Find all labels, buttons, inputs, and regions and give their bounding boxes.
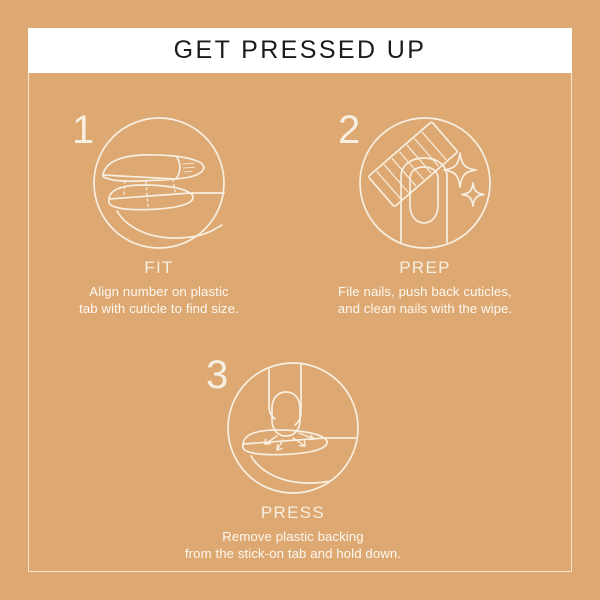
step-press-description-line1: Remove plastic backing [160, 528, 426, 545]
step-prep-description-line1: File nails, push back cuticles, [292, 283, 558, 300]
finger-pressing-nail-icon [225, 360, 361, 496]
title-banner: GET PRESSED UP [28, 28, 572, 73]
step-fit-description: Align number on plastic tab with cuticle… [26, 283, 292, 318]
step-prep-artwork: 2 [292, 112, 558, 248]
step-press-artwork: 3 [160, 357, 426, 493]
nail-with-plastic-tab-icon [91, 115, 227, 251]
step-press-label: PRESS [160, 503, 426, 523]
page-title: GET PRESSED UP [174, 36, 427, 65]
step-fit-label: FIT [26, 258, 292, 278]
step-press-description: Remove plastic backing from the stick-on… [160, 528, 426, 563]
step-prep-description: File nails, push back cuticles, and clea… [292, 283, 558, 318]
step-prep-label: PREP [292, 258, 558, 278]
nail-file-with-sparkles-icon [357, 115, 493, 251]
step-press-description-line2: from the stick-on tab and hold down. [160, 545, 426, 562]
step-fit-description-line2: tab with cuticle to find size. [26, 300, 292, 317]
step-fit-artwork: 1 [26, 112, 292, 248]
step-prep: 2 [292, 112, 558, 318]
step-prep-description-line2: and clean nails with the wipe. [292, 300, 558, 317]
poster-canvas: GET PRESSED UP 1 [0, 0, 600, 600]
step-fit-description-line1: Align number on plastic [26, 283, 292, 300]
step-press: 3 [160, 357, 426, 563]
step-fit: 1 [26, 112, 292, 318]
